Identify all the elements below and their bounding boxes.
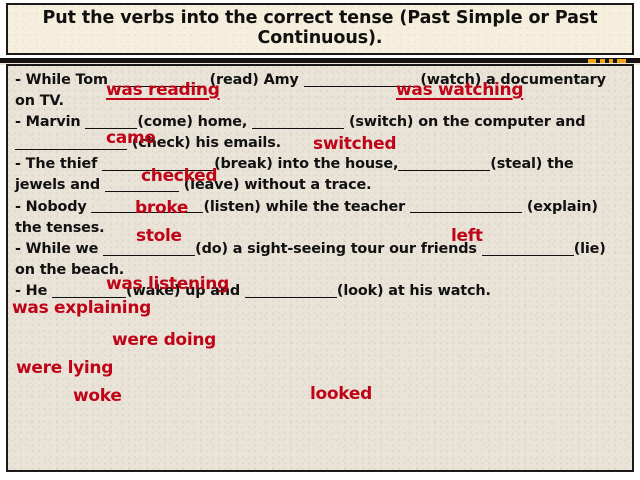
answer-were-lying: were lying — [16, 358, 113, 378]
q4-seg-1: - Nobody — [15, 199, 91, 215]
page-title: Put the verbs into the correct tense (Pa… — [8, 9, 632, 48]
q1-seg-1: - While Tom — [15, 72, 113, 88]
q5-seg-2: (do) a sight-seeing tour our friends — [195, 241, 482, 257]
q3-seg-2: (break) into the house, — [214, 156, 398, 172]
q6-seg-3: (look) at his watch. — [337, 283, 491, 299]
answer-looked: looked — [310, 384, 372, 404]
q5-seg-1: - While we — [15, 241, 103, 257]
exercise-line-1: - While Tom (read) Amy (watch) a documen… — [15, 70, 625, 112]
q3-blank-3[interactable] — [105, 178, 179, 193]
exercise-body-box: - While Tom (read) Amy (watch) a documen… — [6, 64, 634, 472]
answer-were-doing: were doing — [112, 330, 216, 350]
q5-blank-2[interactable] — [482, 241, 574, 256]
q4-blank-1[interactable] — [91, 199, 203, 214]
exercise-line-4: - Nobody (listen) while the teacher (exp… — [15, 197, 625, 239]
q3-seg-1: - The thief — [15, 156, 102, 172]
q5-blank-1[interactable] — [103, 241, 195, 256]
title-box: Put the verbs into the correct tense (Pa… — [6, 3, 634, 55]
q2-seg-1: - Marvin — [15, 114, 85, 130]
answer-woke: woke — [73, 386, 122, 406]
q4-blank-2[interactable] — [410, 199, 522, 214]
q6-blank-1[interactable] — [52, 283, 126, 298]
exercise-line-5: - While we (do) a sight-seeing tour our … — [15, 239, 625, 281]
q3-blank-1[interactable] — [102, 157, 214, 172]
q3-blank-2[interactable] — [398, 157, 490, 172]
q1-blank-1[interactable] — [113, 72, 205, 87]
q3-seg-4: (leave) without a trace. — [179, 177, 372, 193]
exercise-line-2: - Marvin (come) home, (switch) on the co… — [15, 112, 625, 154]
q2-seg-3: (switch) on the computer and — [344, 114, 585, 130]
exercise-line-3: - The thief (break) into the house,(stea… — [15, 154, 625, 196]
q4-seg-2: (listen) while the teacher — [203, 199, 410, 215]
q1-seg-2: (read) Amy — [205, 72, 304, 88]
q2-seg-2: (come) home, — [137, 114, 252, 130]
q2-blank-2[interactable] — [252, 114, 344, 129]
exercise-text-block: - While Tom (read) Amy (watch) a documen… — [8, 66, 632, 302]
worksheet-slide: Put the verbs into the correct tense (Pa… — [0, 0, 640, 480]
q6-seg-2: (wake) up and — [126, 283, 245, 299]
q6-blank-2[interactable] — [245, 283, 337, 298]
q1-blank-2[interactable] — [304, 72, 416, 87]
q2-blank-1[interactable] — [85, 114, 137, 129]
exercise-line-6: - He (wake) up and (look) at his watch. — [15, 281, 625, 302]
q2-seg-4: (check) his emails. — [127, 135, 281, 151]
q6-seg-1: - He — [15, 283, 52, 299]
q2-blank-3[interactable] — [15, 135, 127, 150]
